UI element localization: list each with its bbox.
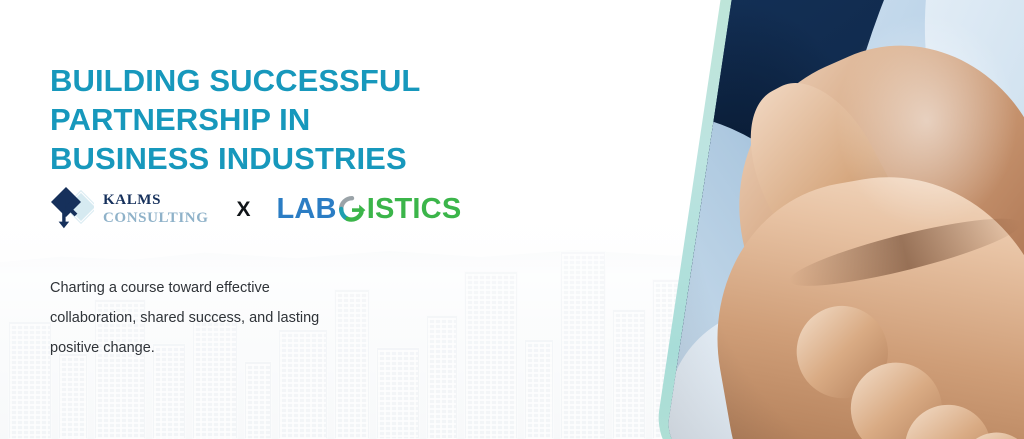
partnership-x-separator: X bbox=[236, 199, 250, 220]
banner-description: Charting a course toward effective colla… bbox=[50, 273, 380, 363]
headline-line-2: PARTNERSHIP IN bbox=[50, 100, 610, 139]
headline-line-1: BUILDING SUCCESSFUL bbox=[50, 61, 610, 100]
handshake-photo-frame bbox=[651, 0, 1024, 439]
kalms-name-line-2: CONSULTING bbox=[103, 211, 208, 226]
kalms-wordmark: KALMS CONSULTING bbox=[103, 193, 208, 226]
kalms-consulting-logo: KALMS CONSULTING bbox=[50, 186, 208, 232]
headline-line-3: BUSINESS INDUSTRIES bbox=[50, 139, 610, 178]
labgistics-suffix: ISTICS bbox=[367, 195, 462, 224]
labgistics-prefix: LAB bbox=[277, 195, 337, 224]
kalms-diamond-k-icon bbox=[50, 186, 94, 232]
partner-logos: KALMS CONSULTING X LAB ISTICS bbox=[50, 185, 461, 233]
partnership-banner: BUILDING SUCCESSFUL PARTNERSHIP IN BUSIN… bbox=[0, 0, 1024, 439]
labgistics-logo: LAB ISTICS bbox=[277, 195, 462, 224]
body-line-3: positive change. bbox=[50, 333, 380, 363]
body-line-2: collaboration, shared success, and lasti… bbox=[50, 303, 380, 333]
labgistics-circular-arrow-g-icon bbox=[338, 195, 366, 223]
kalms-name-line-1: KALMS bbox=[103, 193, 208, 208]
body-line-1: Charting a course toward effective bbox=[50, 273, 380, 303]
page-title: BUILDING SUCCESSFUL PARTNERSHIP IN BUSIN… bbox=[50, 61, 610, 178]
